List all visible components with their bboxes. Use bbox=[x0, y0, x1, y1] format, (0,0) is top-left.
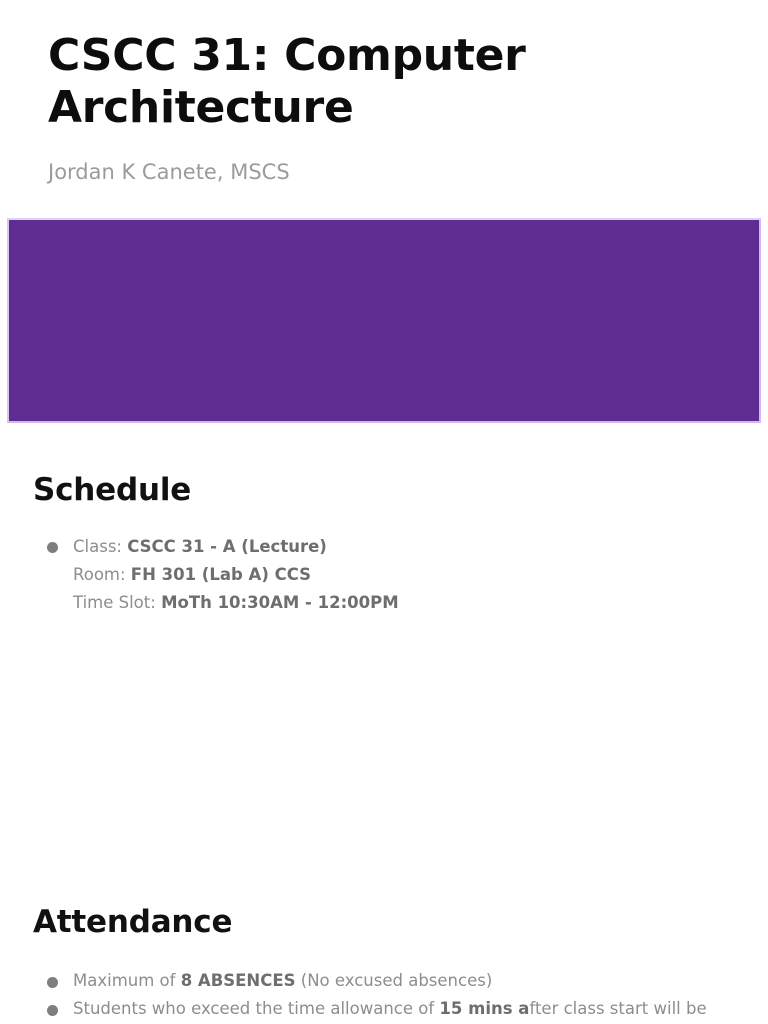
banner-container bbox=[0, 218, 768, 423]
attendance-item-suffix: (No excused absences) bbox=[296, 971, 493, 990]
schedule-list-item: Class: CSCC 31 - A (Lecture) Room: FH 30… bbox=[33, 533, 735, 616]
schedule-room-line: Room: FH 301 (Lab A) CCS bbox=[73, 561, 735, 589]
page-title: CSCC 31: Computer Architecture bbox=[48, 30, 608, 134]
attendance-section: Attendance Maximum of 8 ABSENCES (No exc… bbox=[0, 905, 768, 1024]
title-block: CSCC 31: Computer Architecture Jordan K … bbox=[0, 0, 768, 185]
schedule-list: Class: CSCC 31 - A (Lecture) Room: FH 30… bbox=[33, 533, 735, 616]
attendance-heading: Attendance bbox=[33, 905, 735, 939]
purple-banner-block bbox=[7, 218, 761, 423]
attendance-list-item: Students who exceed the time allowance o… bbox=[33, 995, 735, 1023]
schedule-time-label: Time Slot: bbox=[73, 593, 161, 612]
schedule-section: Schedule Class: CSCC 31 - A (Lecture) Ro… bbox=[0, 473, 768, 616]
author-subtitle: Jordan K Canete, MSCS bbox=[48, 160, 720, 185]
attendance-item-bold: 15 mins a bbox=[439, 999, 529, 1018]
attendance-item-suffix: fter class start will be bbox=[529, 999, 706, 1018]
schedule-room-label: Room: bbox=[73, 565, 131, 584]
schedule-time-value: MoTh 10:30AM - 12:00PM bbox=[161, 593, 399, 612]
document-page: CSCC 31: Computer Architecture Jordan K … bbox=[0, 0, 768, 1024]
attendance-list-item: Maximum of 8 ABSENCES (No excused absenc… bbox=[33, 967, 735, 995]
attendance-item-prefix: Students who exceed the time allowance o… bbox=[73, 999, 439, 1018]
schedule-class-label: Class: bbox=[73, 537, 127, 556]
schedule-class-value: CSCC 31 - A (Lecture) bbox=[127, 537, 327, 556]
schedule-class-line: Class: CSCC 31 - A (Lecture) bbox=[73, 533, 735, 561]
schedule-time-line: Time Slot: MoTh 10:30AM - 12:00PM bbox=[73, 589, 735, 617]
schedule-room-value: FH 301 (Lab A) CCS bbox=[131, 565, 311, 584]
attendance-item-bold: 8 ABSENCES bbox=[181, 971, 296, 990]
schedule-heading: Schedule bbox=[33, 473, 735, 507]
attendance-list: Maximum of 8 ABSENCES (No excused absenc… bbox=[33, 967, 735, 1024]
attendance-item-prefix: Maximum of bbox=[73, 971, 181, 990]
